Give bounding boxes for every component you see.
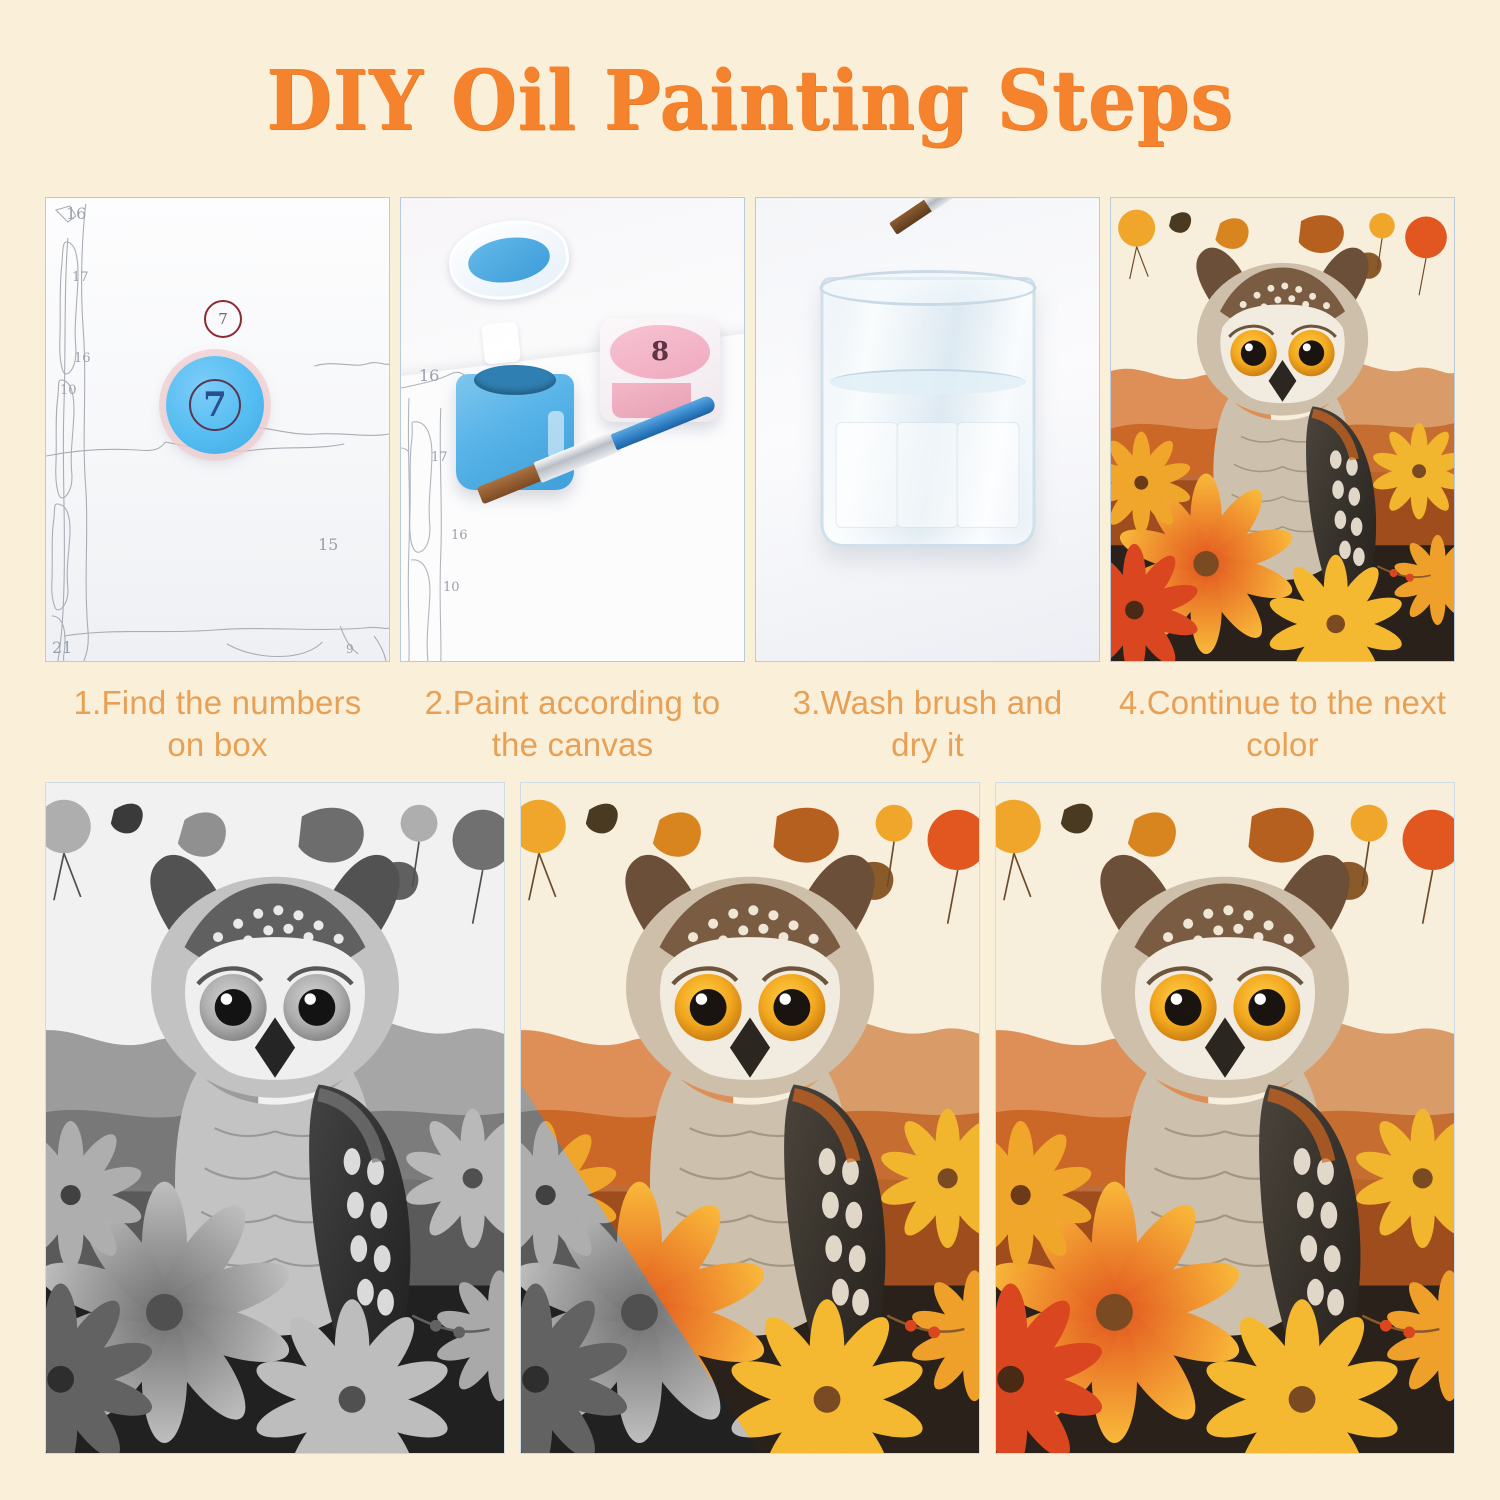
canvas-number: 16: [66, 204, 86, 223]
pink-paint-pot-number: 8: [610, 325, 711, 379]
step-1-image: 16 17 16 10 15 21 9 7 7: [45, 197, 390, 662]
glass-facet: [896, 422, 959, 528]
canvas-number: 16: [451, 528, 468, 543]
canvas-number: 16: [74, 351, 91, 366]
page-title: DIY Oil Painting Steps: [60, 0, 1440, 142]
canvas-number: 21: [52, 638, 72, 657]
paint-pot-number: 7: [189, 379, 241, 431]
paint-pot: 7: [166, 356, 264, 454]
steps-row: 16 17 16 10 15 21 9 7 7 16 17 16 10: [45, 197, 1455, 662]
canvas-number: 10: [60, 383, 77, 398]
progress-row: [45, 782, 1455, 1454]
step-4-caption: 4.Continue to the next color: [1110, 682, 1455, 765]
glass-rim: [819, 270, 1036, 306]
paint-pot-hinge: [481, 321, 521, 365]
step-3-image: [755, 197, 1100, 662]
glass-facet: [836, 422, 899, 528]
progress-panel-half-colored: [520, 782, 980, 1454]
step-3-caption: 3.Wash brush and dry it: [755, 682, 1100, 765]
owl-artwork-grayscale: [46, 783, 504, 1453]
water-glass: [820, 277, 1035, 547]
canvas-number: 17: [431, 450, 448, 465]
step-4-image: [1110, 197, 1455, 662]
step-2-image: 16 17 16 10 8: [400, 197, 745, 662]
owl-artwork-color: [1111, 198, 1454, 661]
canvas-number: 15: [318, 535, 338, 554]
progress-panel-colored: [995, 782, 1455, 1454]
canvas-number: 16: [419, 366, 439, 385]
owl-artwork-full-color: [996, 783, 1454, 1453]
step-2-caption: 2.Paint according to the canvas: [400, 682, 745, 765]
circled-number-marker: 7: [204, 300, 242, 338]
step-1-caption: 1.Find the numbers on box: [45, 682, 390, 765]
canvas-number: 9: [346, 642, 354, 656]
canvas-number: 17: [72, 270, 89, 285]
glass-facet: [957, 422, 1020, 528]
water-surface: [829, 369, 1025, 395]
canvas-number: 10: [443, 580, 460, 595]
progress-panel-grayscale: [45, 782, 505, 1454]
step-captions-row: 1.Find the numbers on box 2.Paint accord…: [45, 682, 1455, 765]
